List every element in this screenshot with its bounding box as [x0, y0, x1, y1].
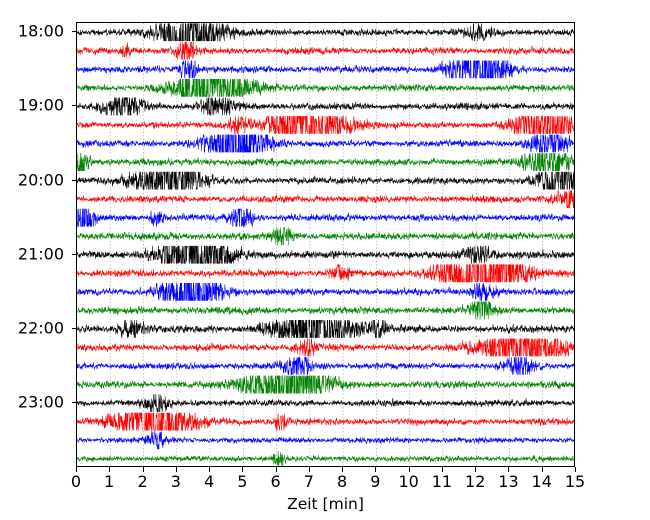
y-tick-label-1900: 19:00	[18, 96, 64, 115]
x-tick-mark	[575, 467, 576, 472]
x-tick-label-9: 9	[370, 472, 380, 491]
x-tick-mark	[76, 467, 77, 472]
x-tick-label-7: 7	[304, 472, 314, 491]
x-axis-label: Zeit [min]	[76, 495, 575, 513]
x-tick-label-5: 5	[237, 472, 247, 491]
x-tick-label-12: 12	[465, 472, 485, 491]
x-tick-mark	[209, 467, 210, 472]
x-tick-label-0: 0	[71, 472, 81, 491]
x-tick-label-4: 4	[204, 472, 214, 491]
x-tick-label-11: 11	[432, 472, 452, 491]
y-axis-tick-labels: 18:0019:0020:0021:0022:0023:00	[0, 0, 64, 520]
x-tick-label-13: 13	[498, 472, 518, 491]
x-tick-mark	[176, 467, 177, 472]
x-tick-mark	[442, 467, 443, 472]
x-tick-mark	[242, 467, 243, 472]
x-tick-mark	[508, 467, 509, 472]
x-tick-mark	[342, 467, 343, 472]
x-tick-mark	[409, 467, 410, 472]
x-tick-label-8: 8	[337, 472, 347, 491]
seismogram-figure: UTC (Lokalzeit = UTC + 02:00) 18:0019:00…	[0, 0, 650, 520]
x-tick-mark	[542, 467, 543, 472]
x-tick-label-14: 14	[532, 472, 552, 491]
x-tick-label-3: 3	[171, 472, 181, 491]
x-tick-label-1: 1	[104, 472, 114, 491]
y-tick-label-1800: 18:00	[18, 22, 64, 41]
seismogram-traces-canvas	[77, 23, 575, 467]
x-tick-mark	[375, 467, 376, 472]
x-tick-label-15: 15	[565, 472, 585, 491]
x-tick-label-2: 2	[137, 472, 147, 491]
x-tick-mark	[276, 467, 277, 472]
y-tick-label-2200: 22:00	[18, 318, 64, 337]
x-tick-mark	[309, 467, 310, 472]
y-tick-label-2000: 20:00	[18, 170, 64, 189]
x-tick-label-6: 6	[271, 472, 281, 491]
x-tick-mark	[143, 467, 144, 472]
x-tick-label-10: 10	[398, 472, 418, 491]
x-tick-mark	[109, 467, 110, 472]
y-tick-label-2100: 21:00	[18, 244, 64, 263]
plot-area	[76, 22, 575, 467]
x-tick-mark	[475, 467, 476, 472]
y-tick-label-2300: 23:00	[18, 393, 64, 412]
